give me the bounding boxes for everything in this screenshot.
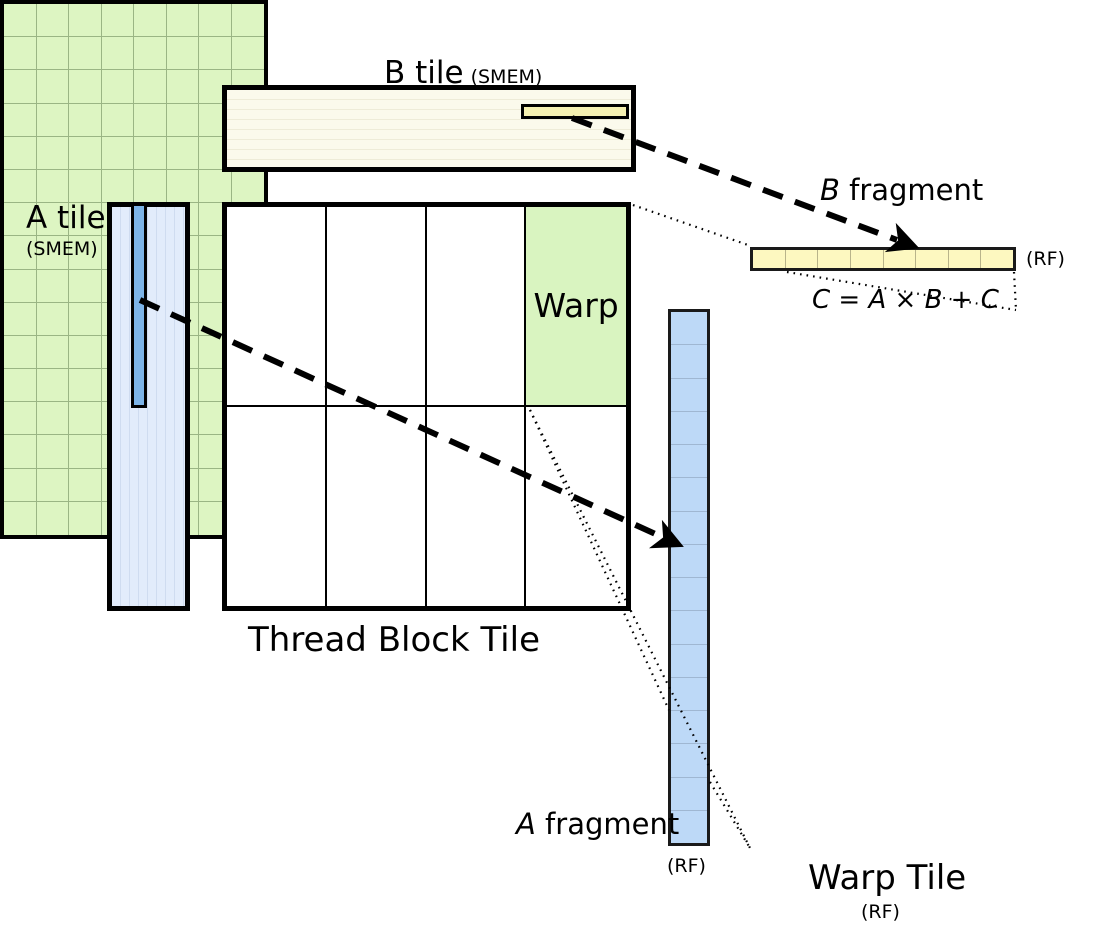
b-fragment-storage: (RF) — [1026, 250, 1065, 269]
warp-tile-cell — [102, 4, 135, 37]
a-fragment-cell — [671, 578, 707, 611]
warp-tile-cell — [134, 137, 167, 170]
warp-tile-cell — [37, 402, 70, 435]
warp-tile-cell — [199, 170, 232, 203]
warp-tile-cell — [69, 4, 102, 37]
warp-tile-cell — [102, 70, 135, 103]
warp-tile-cell — [37, 369, 70, 402]
thread-block-cell — [227, 407, 327, 607]
warp-tile-cell — [4, 270, 37, 303]
warp-tile-cell — [167, 4, 200, 37]
a-tile-title-main: A tile — [26, 203, 106, 234]
a-fragment-cell — [671, 512, 707, 545]
warp-tile-cell — [102, 170, 135, 203]
warp-tile-cell — [167, 104, 200, 137]
b-fragment-bar — [750, 247, 1016, 271]
warp-tile-cell — [4, 137, 37, 170]
warp-tile-cell — [199, 37, 232, 70]
warp-tile-cell — [102, 104, 135, 137]
b-tile-highlighted-row — [521, 104, 629, 119]
warp-tile-cell — [69, 435, 102, 468]
warp-tile-cell — [134, 70, 167, 103]
warp-tile-cell — [167, 37, 200, 70]
a-tile-box — [107, 202, 190, 611]
warp-tile-cell — [4, 104, 37, 137]
warp-tile-cell — [69, 104, 102, 137]
warp-tile-cell — [4, 170, 37, 203]
warp-tile-cell — [37, 170, 70, 203]
a-fragment-cell — [671, 412, 707, 445]
warp-tile-cell — [37, 303, 70, 336]
b-fragment-cell — [753, 250, 786, 268]
warp-tile-cell — [199, 4, 232, 37]
leader-b-fragment-to-warp-tile — [1014, 272, 1016, 310]
b-fragment-cell — [884, 250, 917, 268]
thread-block-cell-warp: Warp — [526, 207, 626, 407]
warp-tile-cell — [37, 37, 70, 70]
warp-tile-equation: C = A × B + C — [812, 287, 999, 313]
thread-block-cell — [227, 207, 327, 407]
warp-tile-cell — [232, 37, 265, 70]
warp-tile-cell — [4, 435, 37, 468]
a-fragment-label: A fragment — [516, 810, 679, 839]
warp-tile-cell — [4, 502, 37, 535]
a-fragment-cell — [671, 678, 707, 711]
warp-tile-cell — [37, 270, 70, 303]
a-fragment-cell — [671, 379, 707, 412]
warp-tile-cell — [167, 170, 200, 203]
warp-tile-cell — [37, 104, 70, 137]
warp-tile-cell — [69, 70, 102, 103]
warp-tile-cell — [37, 137, 70, 170]
warp-tile-cell — [232, 170, 265, 203]
warp-tile-cell — [37, 469, 70, 502]
a-fragment-cell — [671, 345, 707, 378]
warp-tile-cell — [4, 369, 37, 402]
warp-tile-cell — [37, 70, 70, 103]
warp-tile-cell — [102, 37, 135, 70]
warp-tile-cell — [37, 336, 70, 369]
warp-tile-cell — [37, 4, 70, 37]
b-fragment-label-symbol: B — [820, 173, 840, 207]
thread-block-cell — [327, 407, 427, 607]
b-fragment-cell — [981, 250, 1013, 268]
thread-block-cell — [427, 207, 527, 407]
a-fragment-cell — [671, 645, 707, 678]
warp-tile-cell — [69, 137, 102, 170]
warp-tile-cell — [134, 104, 167, 137]
diagram-canvas: B tile(SMEM) A tile (SMEM) Warp Thread B… — [0, 0, 1101, 937]
warp-tile-cell — [4, 70, 37, 103]
b-fragment-cell — [949, 250, 982, 268]
warp-tile-cell — [37, 435, 70, 468]
a-fragment-cell — [671, 611, 707, 644]
warp-tile-storage: (RF) — [861, 903, 900, 922]
a-fragment-cell — [671, 744, 707, 777]
warp-tile-cell — [232, 4, 265, 37]
warp-tile-caption: Warp Tile — [808, 861, 966, 895]
warp-tile-cell — [37, 502, 70, 535]
a-fragment-cell — [671, 445, 707, 478]
a-fragment-cell — [671, 778, 707, 811]
warp-tile-cell — [4, 402, 37, 435]
warp-tile-cell — [69, 170, 102, 203]
a-fragment-cell — [671, 545, 707, 578]
b-fragment-cell — [851, 250, 884, 268]
b-fragment-cell — [818, 250, 851, 268]
warp-tile-cell — [4, 303, 37, 336]
warp-tile-cell — [69, 336, 102, 369]
a-tile-highlighted-column — [131, 203, 147, 408]
thread-block-tile-box: Warp — [222, 202, 631, 611]
b-tile-box — [222, 85, 636, 172]
warp-tile-cell — [167, 70, 200, 103]
warp-tile-cell — [134, 170, 167, 203]
warp-tile-cell — [134, 4, 167, 37]
a-tile-title-mem: (SMEM) — [26, 240, 98, 259]
warp-cell-label: Warp — [533, 286, 618, 325]
thread-block-tile-grid: Warp — [227, 207, 626, 606]
warp-tile-cell — [102, 137, 135, 170]
b-fragment-cell — [916, 250, 949, 268]
a-fragment-cell — [671, 312, 707, 345]
warp-tile-cell — [69, 37, 102, 70]
thread-block-cell — [427, 407, 527, 607]
leader-a-fragment-to-warp-tile — [710, 782, 750, 848]
warp-tile-cell — [69, 469, 102, 502]
a-fragment-cell — [671, 711, 707, 744]
warp-tile-cell — [69, 369, 102, 402]
warp-tile-cell — [4, 336, 37, 369]
warp-tile-cell — [4, 37, 37, 70]
warp-tile-cell — [4, 469, 37, 502]
warp-tile-cell — [4, 4, 37, 37]
thread-block-cell — [526, 407, 626, 607]
leader-warp-top-to-b-fragment — [633, 205, 748, 245]
a-fragment-storage: (RF) — [667, 857, 706, 876]
a-fragment-label-symbol: A — [516, 807, 536, 841]
warp-tile-cell — [69, 502, 102, 535]
b-fragment-cell — [786, 250, 819, 268]
warp-tile-cell — [69, 303, 102, 336]
thread-block-cell — [327, 207, 427, 407]
warp-tile-cell — [167, 137, 200, 170]
warp-tile-cell — [134, 37, 167, 70]
a-fragment-bar — [668, 309, 710, 846]
thread-block-tile-caption: Thread Block Tile — [248, 623, 540, 657]
a-fragment-cell — [671, 478, 707, 511]
b-fragment-label: B fragment — [820, 176, 983, 205]
warp-tile-cell — [69, 270, 102, 303]
warp-tile-cell — [69, 402, 102, 435]
